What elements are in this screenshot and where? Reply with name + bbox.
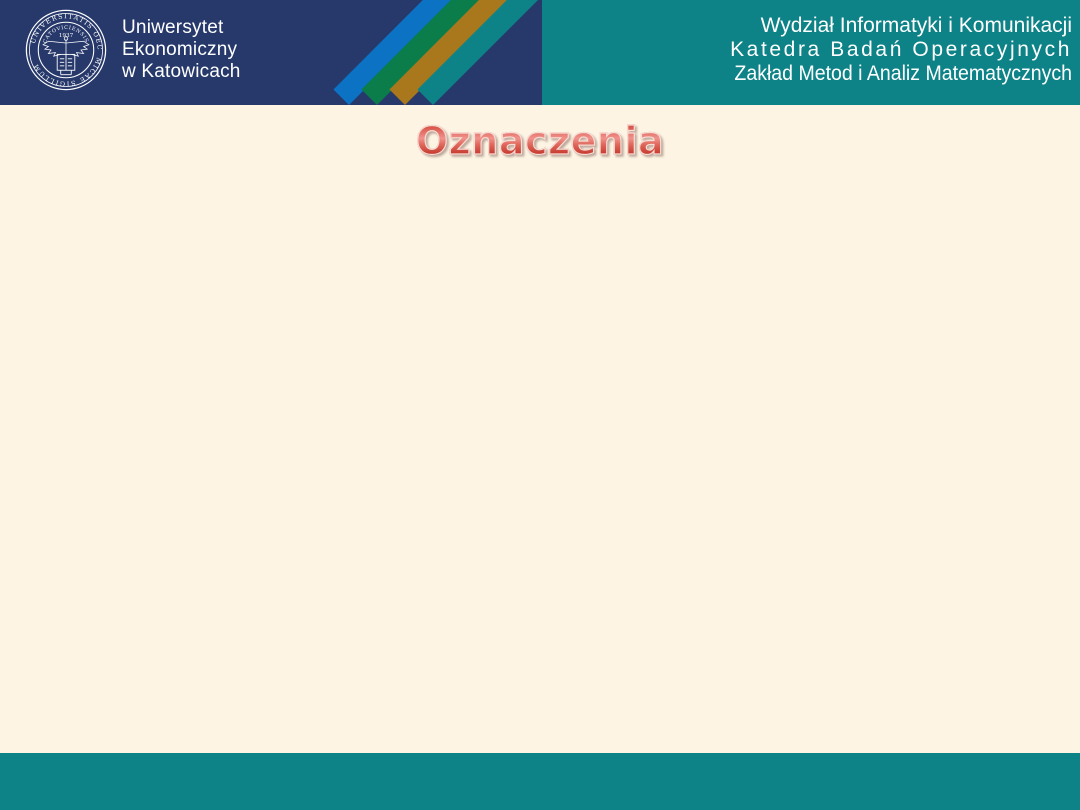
university-name: Uniwersytet Ekonomiczny w Katowicach (122, 17, 241, 83)
gold-stripe (389, 0, 542, 105)
slide-footer-bar (0, 753, 1080, 810)
title-area: Oznaczenia (0, 105, 1080, 175)
university-name-line3: w Katowicach (122, 61, 241, 83)
svg-text:1937: 1937 (59, 33, 74, 39)
faculty-name: Wydział Informatyki i Komunikacji (709, 14, 1072, 38)
university-logo-block: UNIVERSITATIS OECONO MICAE SIGILLUM CATO… (22, 6, 241, 94)
department-name-block: Wydział Informatyki i Komunikacji Katedr… (709, 14, 1072, 86)
university-crest-icon: UNIVERSITATIS OECONO MICAE SIGILLUM CATO… (22, 6, 110, 94)
unit-name: Zakład Metod i Analiz Matematycznych (734, 62, 1072, 86)
slide-header: UNIVERSITATIS OECONO MICAE SIGILLUM CATO… (0, 0, 1080, 105)
blue-stripe (333, 0, 542, 105)
chair-name: Katedra Badań Operacyjnych (709, 38, 1072, 62)
teal-stripe (417, 0, 542, 105)
slide-content-area (0, 175, 1080, 753)
university-name-line2: Ekonomiczny (122, 39, 241, 61)
presentation-slide: UNIVERSITATIS OECONO MICAE SIGILLUM CATO… (0, 0, 1080, 810)
university-name-line1: Uniwersytet (122, 17, 241, 39)
header-left-panel: UNIVERSITATIS OECONO MICAE SIGILLUM CATO… (0, 0, 542, 105)
green-stripe (361, 0, 542, 105)
diagonal-stripes-decoration (332, 0, 542, 105)
svg-text:MICAE SIGILLUM: MICAE SIGILLUM (32, 56, 103, 88)
slide-title: Oznaczenia (0, 119, 1080, 163)
